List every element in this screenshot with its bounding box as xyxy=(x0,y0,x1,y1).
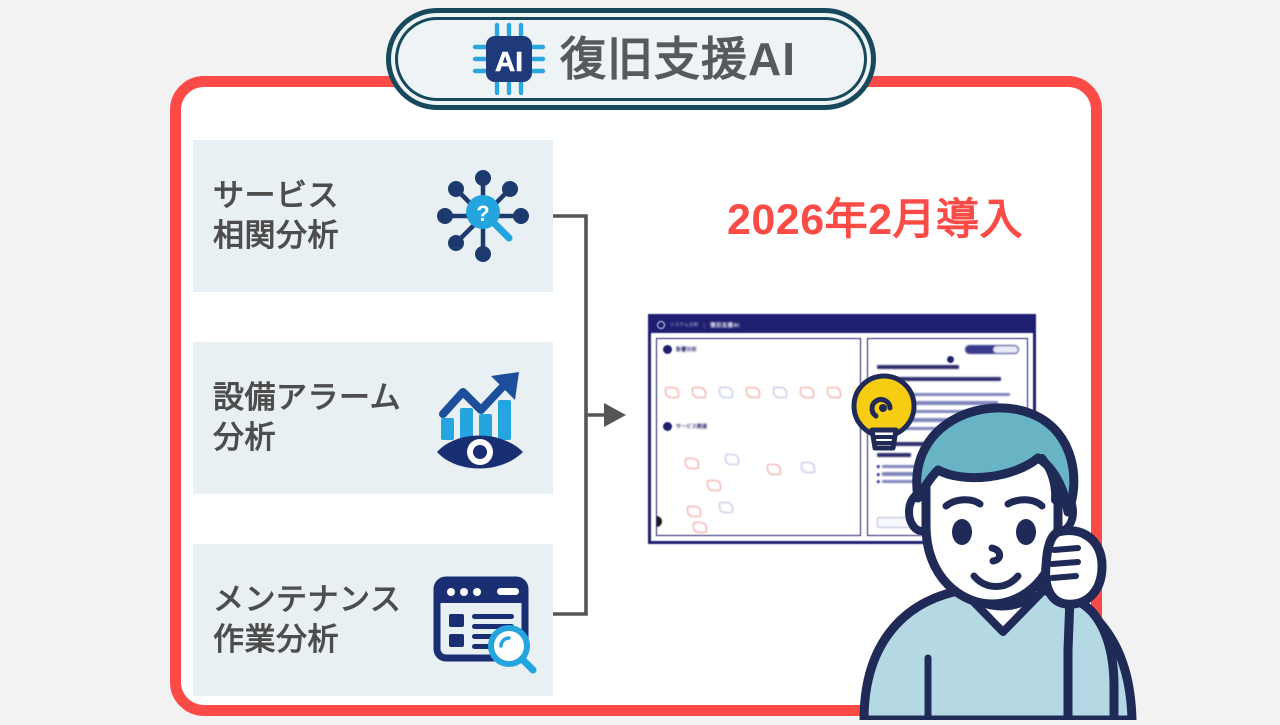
svg-text:AI: AI xyxy=(495,46,523,77)
service-node-icon xyxy=(665,368,687,388)
page-headline: 2026年2月導入 xyxy=(700,185,1050,247)
content-heading xyxy=(877,365,959,369)
segmented-toggle[interactable] xyxy=(965,345,1019,354)
poster-canvas: AI 復旧支援AI サービス 相関分析 xyxy=(0,0,1280,720)
section-bullet-icon xyxy=(663,422,672,431)
breadcrumb-separator: | xyxy=(704,323,705,328)
service-node-icon xyxy=(725,435,747,455)
service-node-icon xyxy=(800,368,822,388)
feature-card-maintenance-work[interactable]: メンテナンス 作業分析 xyxy=(193,544,553,696)
network-search-question-icon: ? xyxy=(429,162,537,270)
service-node-icon xyxy=(685,439,707,459)
chart-trend-eye-icon xyxy=(429,364,537,472)
service-node-icon xyxy=(693,503,715,523)
service-node-icon xyxy=(801,443,823,463)
banner-title: 復旧支援AI xyxy=(560,36,796,82)
document-window-magnifier-icon xyxy=(429,566,537,674)
feature-card-service-correlation[interactable]: サービス 相関分析 xyxy=(193,140,553,292)
title-banner: AI 復旧支援AI xyxy=(386,8,876,110)
section-title-text: サービス関連 xyxy=(676,423,707,430)
service-node-icon xyxy=(707,461,729,481)
dashboard-breadcrumb: システム分析 xyxy=(670,322,699,328)
service-node-icon xyxy=(719,483,741,503)
dashboard-left-pane[interactable]: ◢◥ 影響分析 xyxy=(656,338,861,536)
service-node-icon xyxy=(719,368,741,388)
toggle-option-detail[interactable] xyxy=(993,346,1019,353)
grid-menu-icon xyxy=(657,321,665,329)
svg-text:?: ? xyxy=(476,201,489,226)
service-node-icon xyxy=(746,368,768,388)
feature-card-label: 設備アラーム 分析 xyxy=(213,378,401,457)
bracket-arrow-right-icon xyxy=(548,130,628,655)
service-node-icon xyxy=(692,368,714,388)
feature-card-label: サービス 相関分析 xyxy=(213,176,339,255)
service-node-icon xyxy=(773,368,795,388)
service-node-cluster xyxy=(671,435,860,509)
ai-chip-icon: AI xyxy=(472,22,546,96)
section-title-text: 影響分析 xyxy=(676,346,697,353)
feature-card-label: メンテナンス 作業分析 xyxy=(213,580,401,659)
service-node-row xyxy=(657,354,860,388)
toggle-option-summary[interactable] xyxy=(966,346,992,353)
corner-badge-icon xyxy=(656,516,662,527)
person-illustration xyxy=(846,400,1146,720)
dashboard-header: システム分析 | 復旧支援AI xyxy=(651,317,1033,333)
section-bullet-icon xyxy=(663,345,672,354)
feature-card-equipment-alarm[interactable]: 設備アラーム 分析 xyxy=(193,342,553,494)
left-section-1-title: 影響分析 xyxy=(663,345,860,354)
service-node-icon xyxy=(767,445,789,465)
left-section-2-title: サービス関連 xyxy=(663,422,860,431)
dashboard-title: 復旧支援AI xyxy=(710,321,739,329)
